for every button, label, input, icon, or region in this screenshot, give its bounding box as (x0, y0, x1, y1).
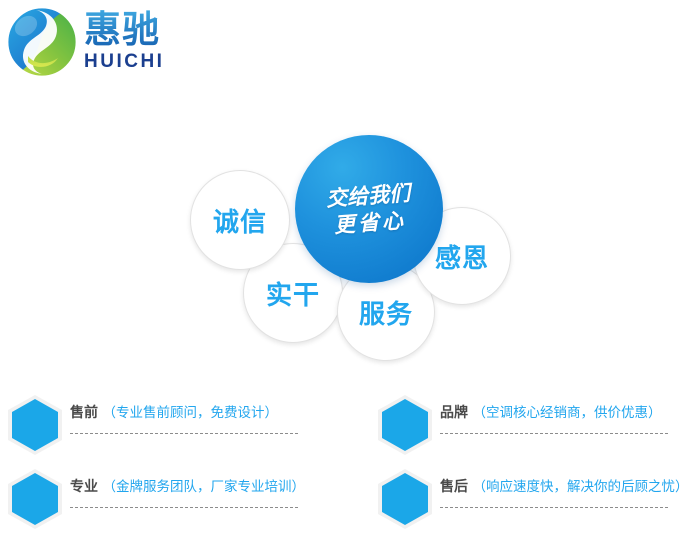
feature-divider (440, 433, 668, 434)
bubble-label-shigan: 实干 (266, 275, 320, 312)
hexagon-icon (8, 469, 64, 529)
bubble-label-chengxin: 诚信 (213, 202, 267, 239)
brand-wordmark: 惠驰 HUICHI (84, 10, 209, 74)
center-slogan-line2: 更省心 (327, 206, 413, 239)
feature-item-brand: 品牌 （空调核心经销商，供价优惠） (378, 392, 700, 460)
feature-grid: 售前 （专业售前顾问，免费设计） 品牌 （空调核心经销商，供价优惠） 专业 （金… (0, 392, 700, 538)
feature-desc: （专业售前顾问，免费设计） (102, 405, 278, 421)
hexagon-icon (378, 395, 434, 455)
bubble-chengxin: 诚信 (190, 170, 290, 270)
feature-title: 专业 (70, 479, 98, 495)
feature-item-presale: 售前 （专业售前顾问，免费设计） (8, 392, 338, 460)
center-slogan-text: 交给我们 更省心 (325, 179, 413, 239)
feature-divider (70, 433, 298, 434)
feature-divider (70, 507, 298, 508)
feature-title: 售后 (440, 479, 468, 495)
feature-title: 售前 (70, 405, 98, 421)
brand-name-en: HUICHI (84, 51, 209, 73)
feature-item-aftersale: 售后 （响应速度快，解决你的后顾之忧） (378, 466, 700, 534)
brand-name-cn: 惠驰 (84, 10, 209, 50)
feature-title: 品牌 (440, 405, 468, 421)
values-bubble-diagram: 诚信 实干 服务 感恩 交给我们 更省心 (185, 115, 525, 380)
bubble-label-ganen: 感恩 (435, 238, 489, 275)
feature-desc: （金牌服务团队，厂家专业培训） (102, 479, 305, 495)
feature-desc: （响应速度快，解决你的后顾之忧） (472, 479, 688, 495)
feature-divider (440, 507, 668, 508)
brand-logo: 惠驰 HUICHI (0, 0, 230, 90)
hexagon-icon (8, 395, 64, 455)
feature-desc: （空调核心经销商，供价优惠） (472, 405, 661, 421)
huichi-swirl-logo (6, 6, 78, 78)
bubble-label-fuwu: 服务 (359, 294, 413, 331)
feature-item-professional: 专业 （金牌服务团队，厂家专业培训） (8, 466, 338, 534)
hexagon-icon (378, 469, 434, 529)
bubble-center-slogan: 交给我们 更省心 (295, 135, 443, 283)
